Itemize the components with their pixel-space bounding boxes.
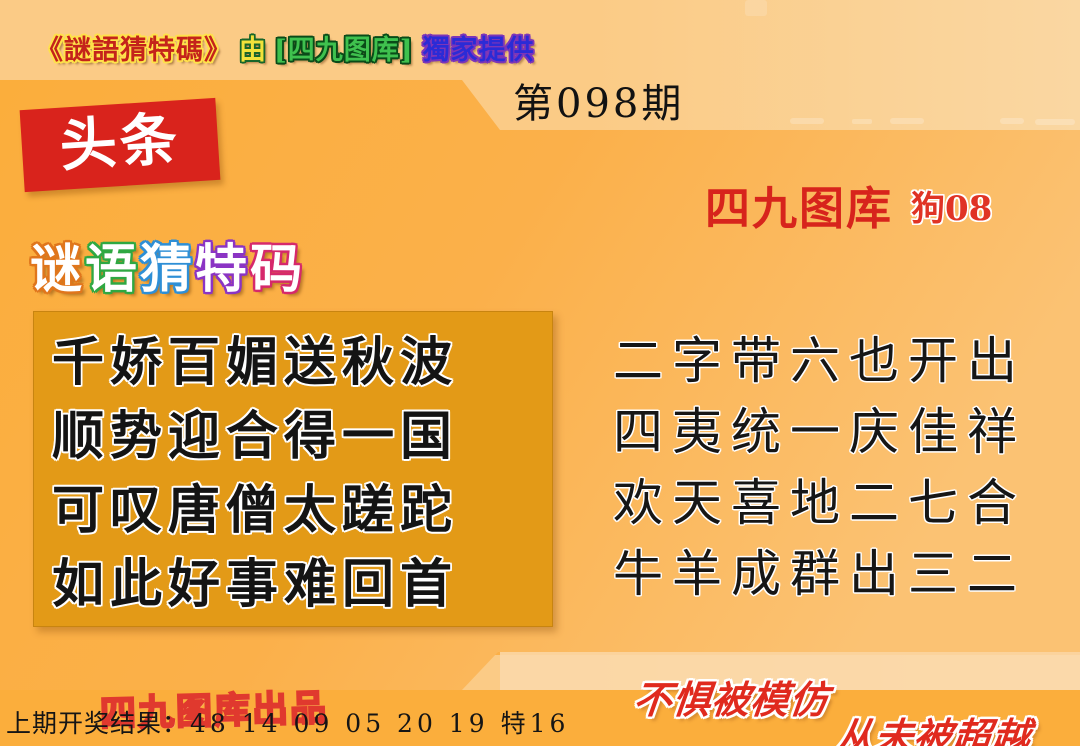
answer-line-4: 牛羊成群出三二 [613, 539, 1026, 610]
riddle-box: 千娇百媚送秋波 顺势迎合得一国 可叹唐僧太蹉跎 如此好事难回首 [33, 311, 553, 627]
section-title-char-5: 码 [250, 244, 305, 296]
previous-result-label: 上期开奖结果： [6, 709, 188, 738]
previous-result-numbers: 48 14 09 05 20 19 特16 [190, 709, 569, 738]
slogan-left: 不惧被模仿 [631, 669, 832, 724]
section-title-char-3: 猜 [140, 244, 195, 296]
headline-badge-label: 头条 [58, 111, 181, 175]
zodiac-label: 狗08 [911, 189, 992, 229]
section-title-char-4: 特 [195, 244, 250, 296]
headline-badge-plate: 头条 [20, 98, 221, 192]
answer-line-2: 四夷统一庆佳祥 [613, 397, 1026, 468]
riddle-line-2: 顺势迎合得一国 [52, 400, 536, 474]
section-title-char-1: 谜 [30, 244, 85, 296]
header-tagline: 《謎語猜特碼》由[四九图库]獨家提供 [36, 28, 535, 67]
header-by-text: 由 [239, 28, 267, 67]
answer-line-1: 二字带六也开出 [613, 326, 1026, 397]
header-source-text: [四九图库] [274, 28, 414, 67]
riddle-line-4: 如此好事难回首 [52, 548, 536, 622]
header-title-text: 《謎語猜特碼》 [36, 28, 232, 67]
brand-name: 四九图库 [705, 182, 893, 235]
answer-line-3: 欢天喜地二七合 [613, 468, 1026, 539]
riddle-line-1: 千娇百媚送秋波 [52, 326, 536, 400]
headline-badge: 头条 [22, 104, 218, 186]
section-title-char-2: 语 [85, 244, 140, 296]
answer-block: 二字带六也开出 四夷统一庆佳祥 欢天喜地二七合 牛羊成群出三二 [613, 326, 1026, 610]
brand-block: 四九图库狗08 [705, 172, 992, 237]
previous-result: 上期开奖结果：48 14 09 05 20 19 特16 [6, 704, 569, 740]
riddle-line-3: 可叹唐僧太蹉跎 [52, 474, 536, 548]
header-exclusive-text: 獨家提供 [423, 28, 535, 67]
section-title: 谜语猜特码 [30, 244, 305, 296]
issue-number: 第098期 [513, 71, 684, 129]
slogan-right: 从未被超越 [833, 706, 1034, 746]
